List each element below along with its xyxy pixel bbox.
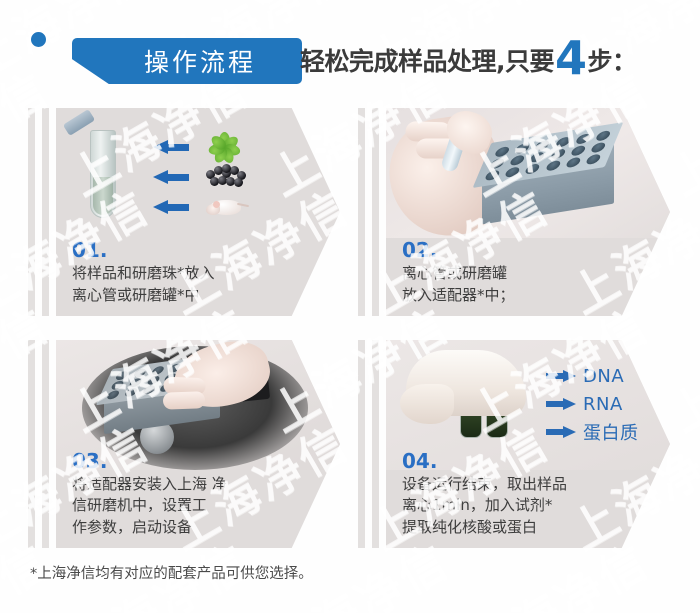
step-text-line: 信研磨机中，设置工 [72,495,227,516]
headline-prefix: 轻松完成样品处理,只要 [300,42,554,78]
step-card-02: 02. 离心管或研磨罐 放入适配器*中； [358,108,670,316]
step-01-caption: 01. 将样品和研磨珠*放入 离心管或研磨罐*中 [72,240,215,306]
step-text-line: 将适配器安装入上海 净 [72,474,227,495]
step-card-01: 01. 将样品和研磨珠*放入 离心管或研磨罐*中 [28,108,340,316]
step-card-03: 03. 将适配器安装入上海 净 信研磨机中，设置工 作参数，启动设备 [28,340,340,548]
step-01-photo [56,108,340,238]
step-text-line: 设备运行结束，取出样品 [402,474,567,495]
output-labels: DNA RNA 蛋白质 [546,362,639,446]
output-label-row: RNA [546,390,639,418]
output-label-text: RNA [583,394,623,415]
card-stripe-inner [372,108,379,316]
step-card-body: 03. 将适配器安装入上海 净 信研磨机中，设置工 作参数，启动设备 [56,340,340,548]
step-text-line: 离心1min，加入试剂* [402,495,567,516]
step-card-04: DNA RNA 蛋白质 04. 设备运行结束，取出样品 [358,340,670,548]
step-number: 01. [72,240,215,261]
step-text-line: 离心管或研磨罐*中 [72,285,215,306]
centrifuge-tube-icon [90,130,116,218]
step-number: 03. [72,451,227,472]
arrow-right-icon [546,398,576,410]
card-stripe-outer [28,340,35,548]
card-stripe-outer [28,108,35,316]
banner-label: 操作流程 [118,43,256,79]
headline-step-count: 4 [555,40,587,77]
step-text-line: 将样品和研磨珠*放入 [72,263,215,284]
step-text-line: 离心管或研磨罐 [402,263,515,284]
step-02-caption: 02. 离心管或研磨罐 放入适配器*中； [402,240,515,306]
step-04-caption: 04. 设备运行结束，取出样品 离心1min，加入试剂* 提取纯化核酸或蛋白 [402,451,567,538]
step-card-body: 01. 将样品和研磨珠*放入 离心管或研磨罐*中 [56,108,340,316]
step-card-body: 02. 离心管或研磨罐 放入适配器*中； [386,108,670,316]
page-header: 操作流程 轻松完成样品处理,只要 4 步： [0,0,700,96]
arrow-left-icon [153,170,189,184]
card-stripe-outer [358,340,365,548]
step-text-line: 放入适配器*中； [402,285,515,306]
output-label-row: DNA [546,362,639,390]
glove-thumb-icon [400,384,454,424]
step-number: 04. [402,451,567,472]
banner-dot-icon [31,32,46,47]
arrow-right-icon [546,370,576,382]
output-label-row: 蛋白质 [546,418,639,446]
footnote: *上海净信均有对应的配套产品可供您选择。 [30,562,313,583]
card-stripe-inner [42,108,49,316]
arrow-left-icon [153,200,189,214]
output-label-text: 蛋白质 [583,419,639,445]
arrow-left-icon [153,140,189,154]
step-text-line: 作参数，启动设备 [72,517,227,538]
step-02-photo [386,108,670,238]
card-stripe-inner [42,340,49,548]
plant-leaf-icon [206,130,242,162]
step-text-line: 提取纯化核酸或蛋白 [402,517,567,538]
headline: 轻松完成样品处理,只要 4 步： [300,36,637,78]
step-number: 02. [402,240,515,261]
lab-mouse-icon [206,196,246,218]
step-card-body: DNA RNA 蛋白质 04. 设备运行结束，取出样品 [386,340,670,548]
headline-suffix: 步： [588,42,637,78]
output-label-text: DNA [583,366,624,387]
card-stripe-outer [358,108,365,316]
arrow-right-icon [546,426,576,438]
infographic-page: 操作流程 轻松完成样品处理,只要 4 步： [0,0,700,613]
grinding-beads-icon [204,164,246,188]
card-stripe-inner [372,340,379,548]
step-03-caption: 03. 将适配器安装入上海 净 信研磨机中，设置工 作参数，启动设备 [72,451,227,538]
banner-shape: 操作流程 [72,38,302,84]
steps-grid: 01. 将样品和研磨珠*放入 离心管或研磨罐*中 [0,100,700,550]
